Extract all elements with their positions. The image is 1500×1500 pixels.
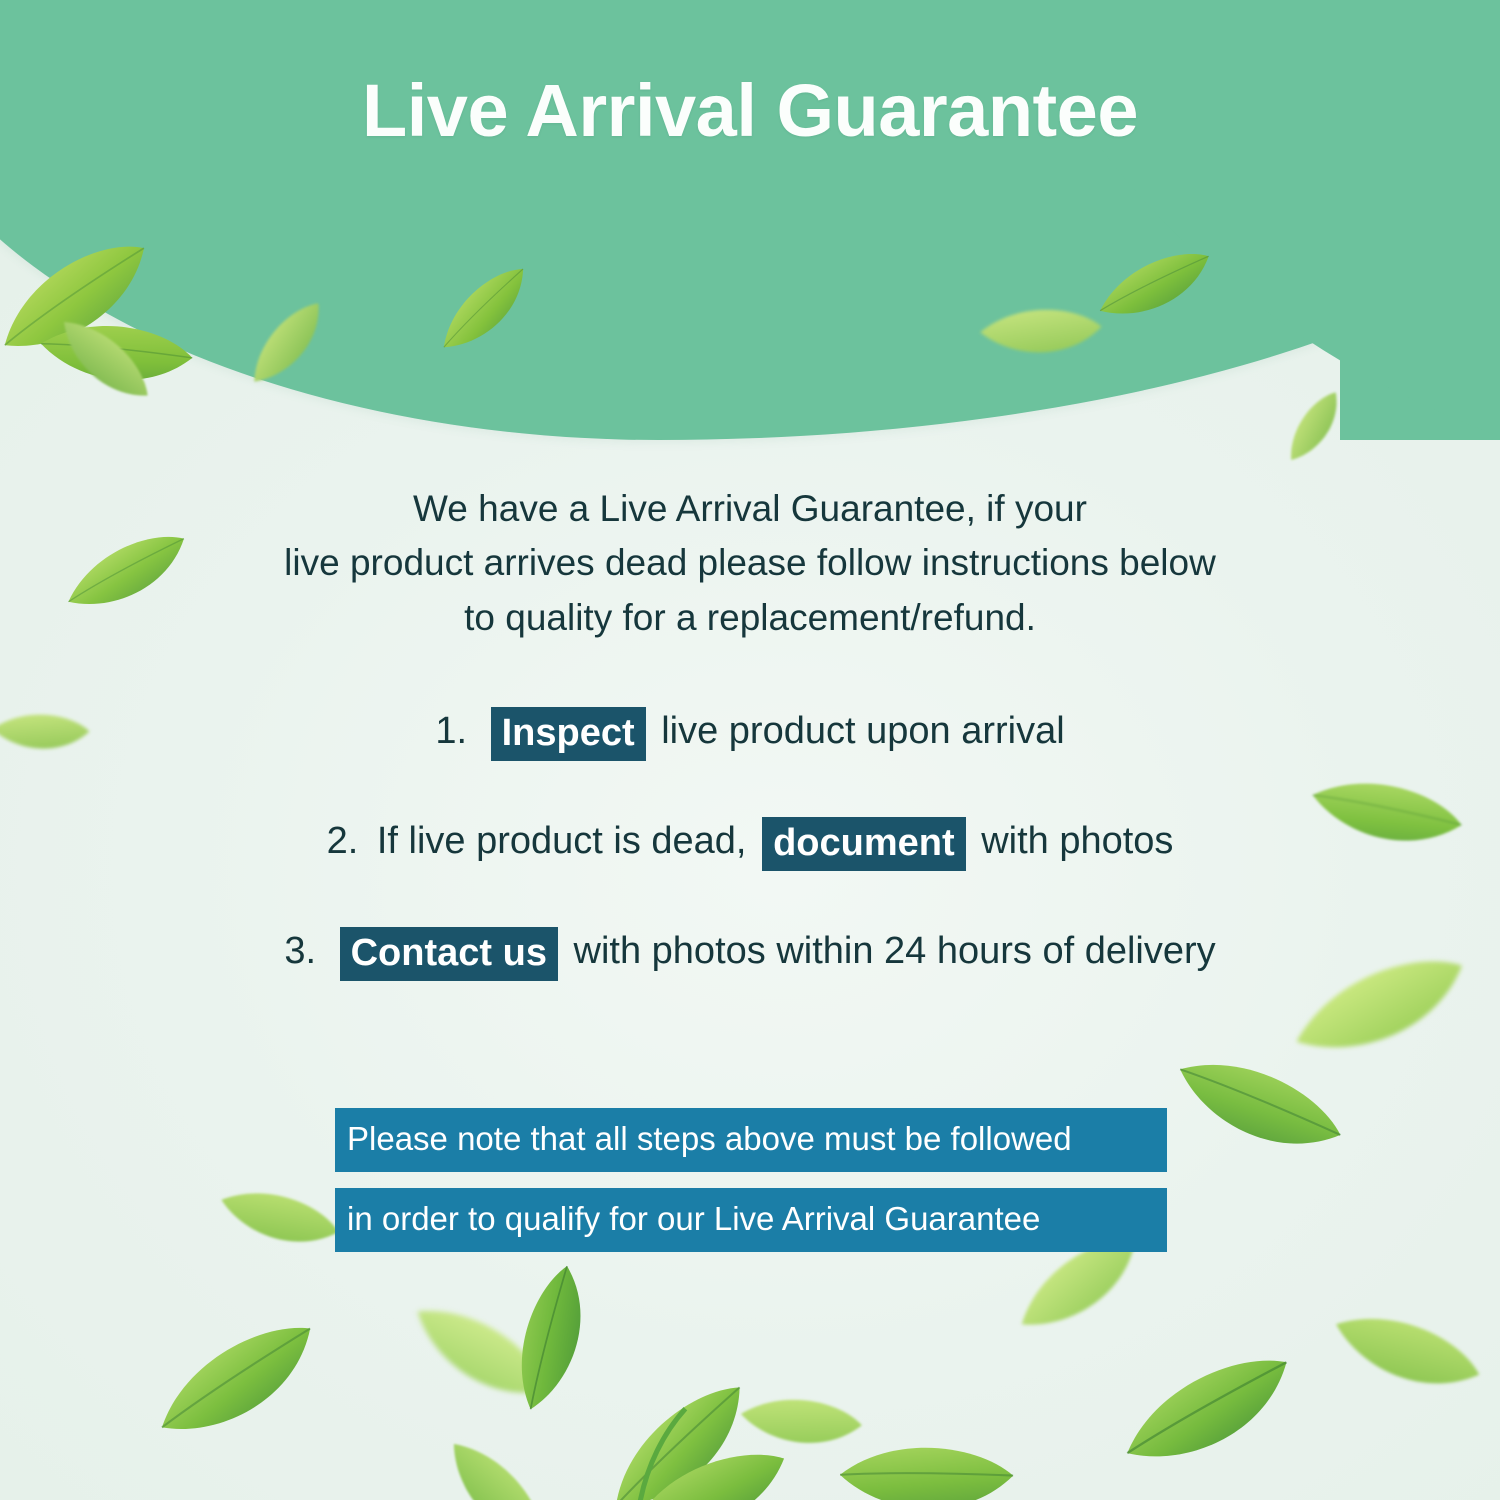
intro-paragraph: We have a Live Arrival Guarantee, if you… — [0, 482, 1500, 645]
leaf-icon — [137, 1300, 339, 1466]
leaf-icon — [1313, 1266, 1497, 1440]
leaf-icon — [728, 1361, 871, 1486]
leaf-icon — [1107, 1333, 1309, 1494]
leaf-icon — [601, 1397, 748, 1500]
leaf-icon — [1153, 1005, 1360, 1206]
steps-list: 1. Inspect live product upon arrival 2. … — [0, 705, 1500, 1035]
step-text-after: with photos — [981, 820, 1173, 862]
step-number: 1. — [435, 710, 467, 752]
note-banner-line-1: Please note that all steps above must be… — [335, 1108, 1167, 1172]
step-text-after: with photos within 24 hours of delivery — [574, 930, 1216, 972]
step-item-3: 3. Contact us with photos within 24 hour… — [0, 925, 1500, 979]
poster-canvas: Live Arrival Guarantee — [0, 0, 1500, 1500]
leaf-icon — [625, 1432, 796, 1500]
intro-line-1: We have a Live Arrival Guarantee, if you… — [150, 482, 1350, 536]
intro-line-2: live product arrives dead please follow … — [150, 536, 1350, 590]
step-number: 3. — [284, 930, 316, 972]
step-highlight-document[interactable]: document — [762, 817, 966, 871]
page-title: Live Arrival Guarantee — [0, 74, 1500, 148]
leaf-icon — [470, 1251, 635, 1429]
leaf-icon — [425, 1415, 565, 1500]
leaf-icon — [389, 1262, 570, 1446]
leaf-icon — [204, 1151, 351, 1288]
step-highlight-inspect[interactable]: Inspect — [491, 707, 646, 761]
note-banners: Please note that all steps above must be… — [335, 1108, 1167, 1252]
step-number: 2. — [327, 820, 359, 862]
leaf-icon — [826, 1397, 1025, 1500]
step-text-before: If live product is dead, — [377, 820, 747, 862]
step-highlight-contact-us[interactable]: Contact us — [340, 927, 558, 981]
step-item-2: 2. If live product is dead, document wit… — [0, 815, 1500, 869]
intro-line-3: to quality for a replacement/refund. — [150, 591, 1350, 645]
note-banner-line-2: in order to qualify for our Live Arrival… — [335, 1188, 1167, 1252]
step-item-1: 1. Inspect live product upon arrival — [0, 705, 1500, 759]
leaf-icon — [579, 1361, 782, 1500]
step-text-after: live product upon arrival — [661, 710, 1064, 752]
